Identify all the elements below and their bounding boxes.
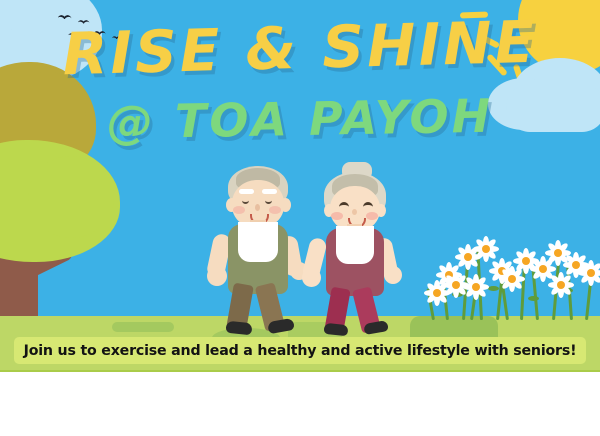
sun-ray-icon (486, 53, 508, 76)
flower-leaf (488, 286, 499, 291)
daisy-flower-icon (424, 280, 444, 300)
man-ear (280, 198, 291, 212)
man-cheek (233, 206, 245, 214)
tagline-banner: Join us to exercise and lead a healthy a… (14, 337, 586, 364)
sun-ray-icon (478, 33, 500, 49)
sun-ray-icon (460, 12, 488, 19)
woman-hand (384, 266, 402, 284)
scene-background (0, 0, 600, 370)
woman-shoe (323, 323, 348, 336)
bird-icon (58, 12, 72, 19)
poster-canvas: RISE & SHINE @ TOA PAYOH Join us to exer… (0, 0, 600, 436)
woman-cheek (331, 212, 343, 220)
bird-icon (78, 18, 90, 24)
woman-nose (352, 209, 357, 215)
tree-canopy-back (10, 72, 86, 144)
woman-eye (363, 202, 373, 211)
tree-canopy-front (28, 156, 114, 238)
woman-towel (336, 226, 374, 264)
man-nose (255, 204, 260, 211)
man-towel (238, 222, 278, 262)
bird-icon (94, 28, 107, 34)
bird-icon (68, 31, 79, 37)
woman-eye (339, 202, 349, 211)
man-cheek (269, 206, 281, 214)
daisy-flower-icon (443, 272, 465, 294)
daisy-flower-icon (548, 272, 570, 294)
cloud-icon (506, 84, 600, 132)
bird-icon (112, 34, 122, 39)
man-hand (207, 266, 227, 286)
footer-logo-bar: YOUTH CORPS SINGAPORE Part Of: NYC NATIO… (0, 370, 600, 436)
woman-hand (302, 268, 321, 287)
tagline-text: Join us to exercise and lead a healthy a… (14, 343, 586, 359)
man-eyebrow (262, 189, 277, 194)
grass-shade (112, 322, 174, 332)
seniors-illustration (206, 162, 396, 338)
daisy-flower-icon (578, 260, 600, 288)
woman-cheek (366, 212, 378, 220)
man-eyebrow (239, 189, 254, 194)
man-shoe (225, 321, 252, 336)
flower-leaf (528, 296, 539, 301)
